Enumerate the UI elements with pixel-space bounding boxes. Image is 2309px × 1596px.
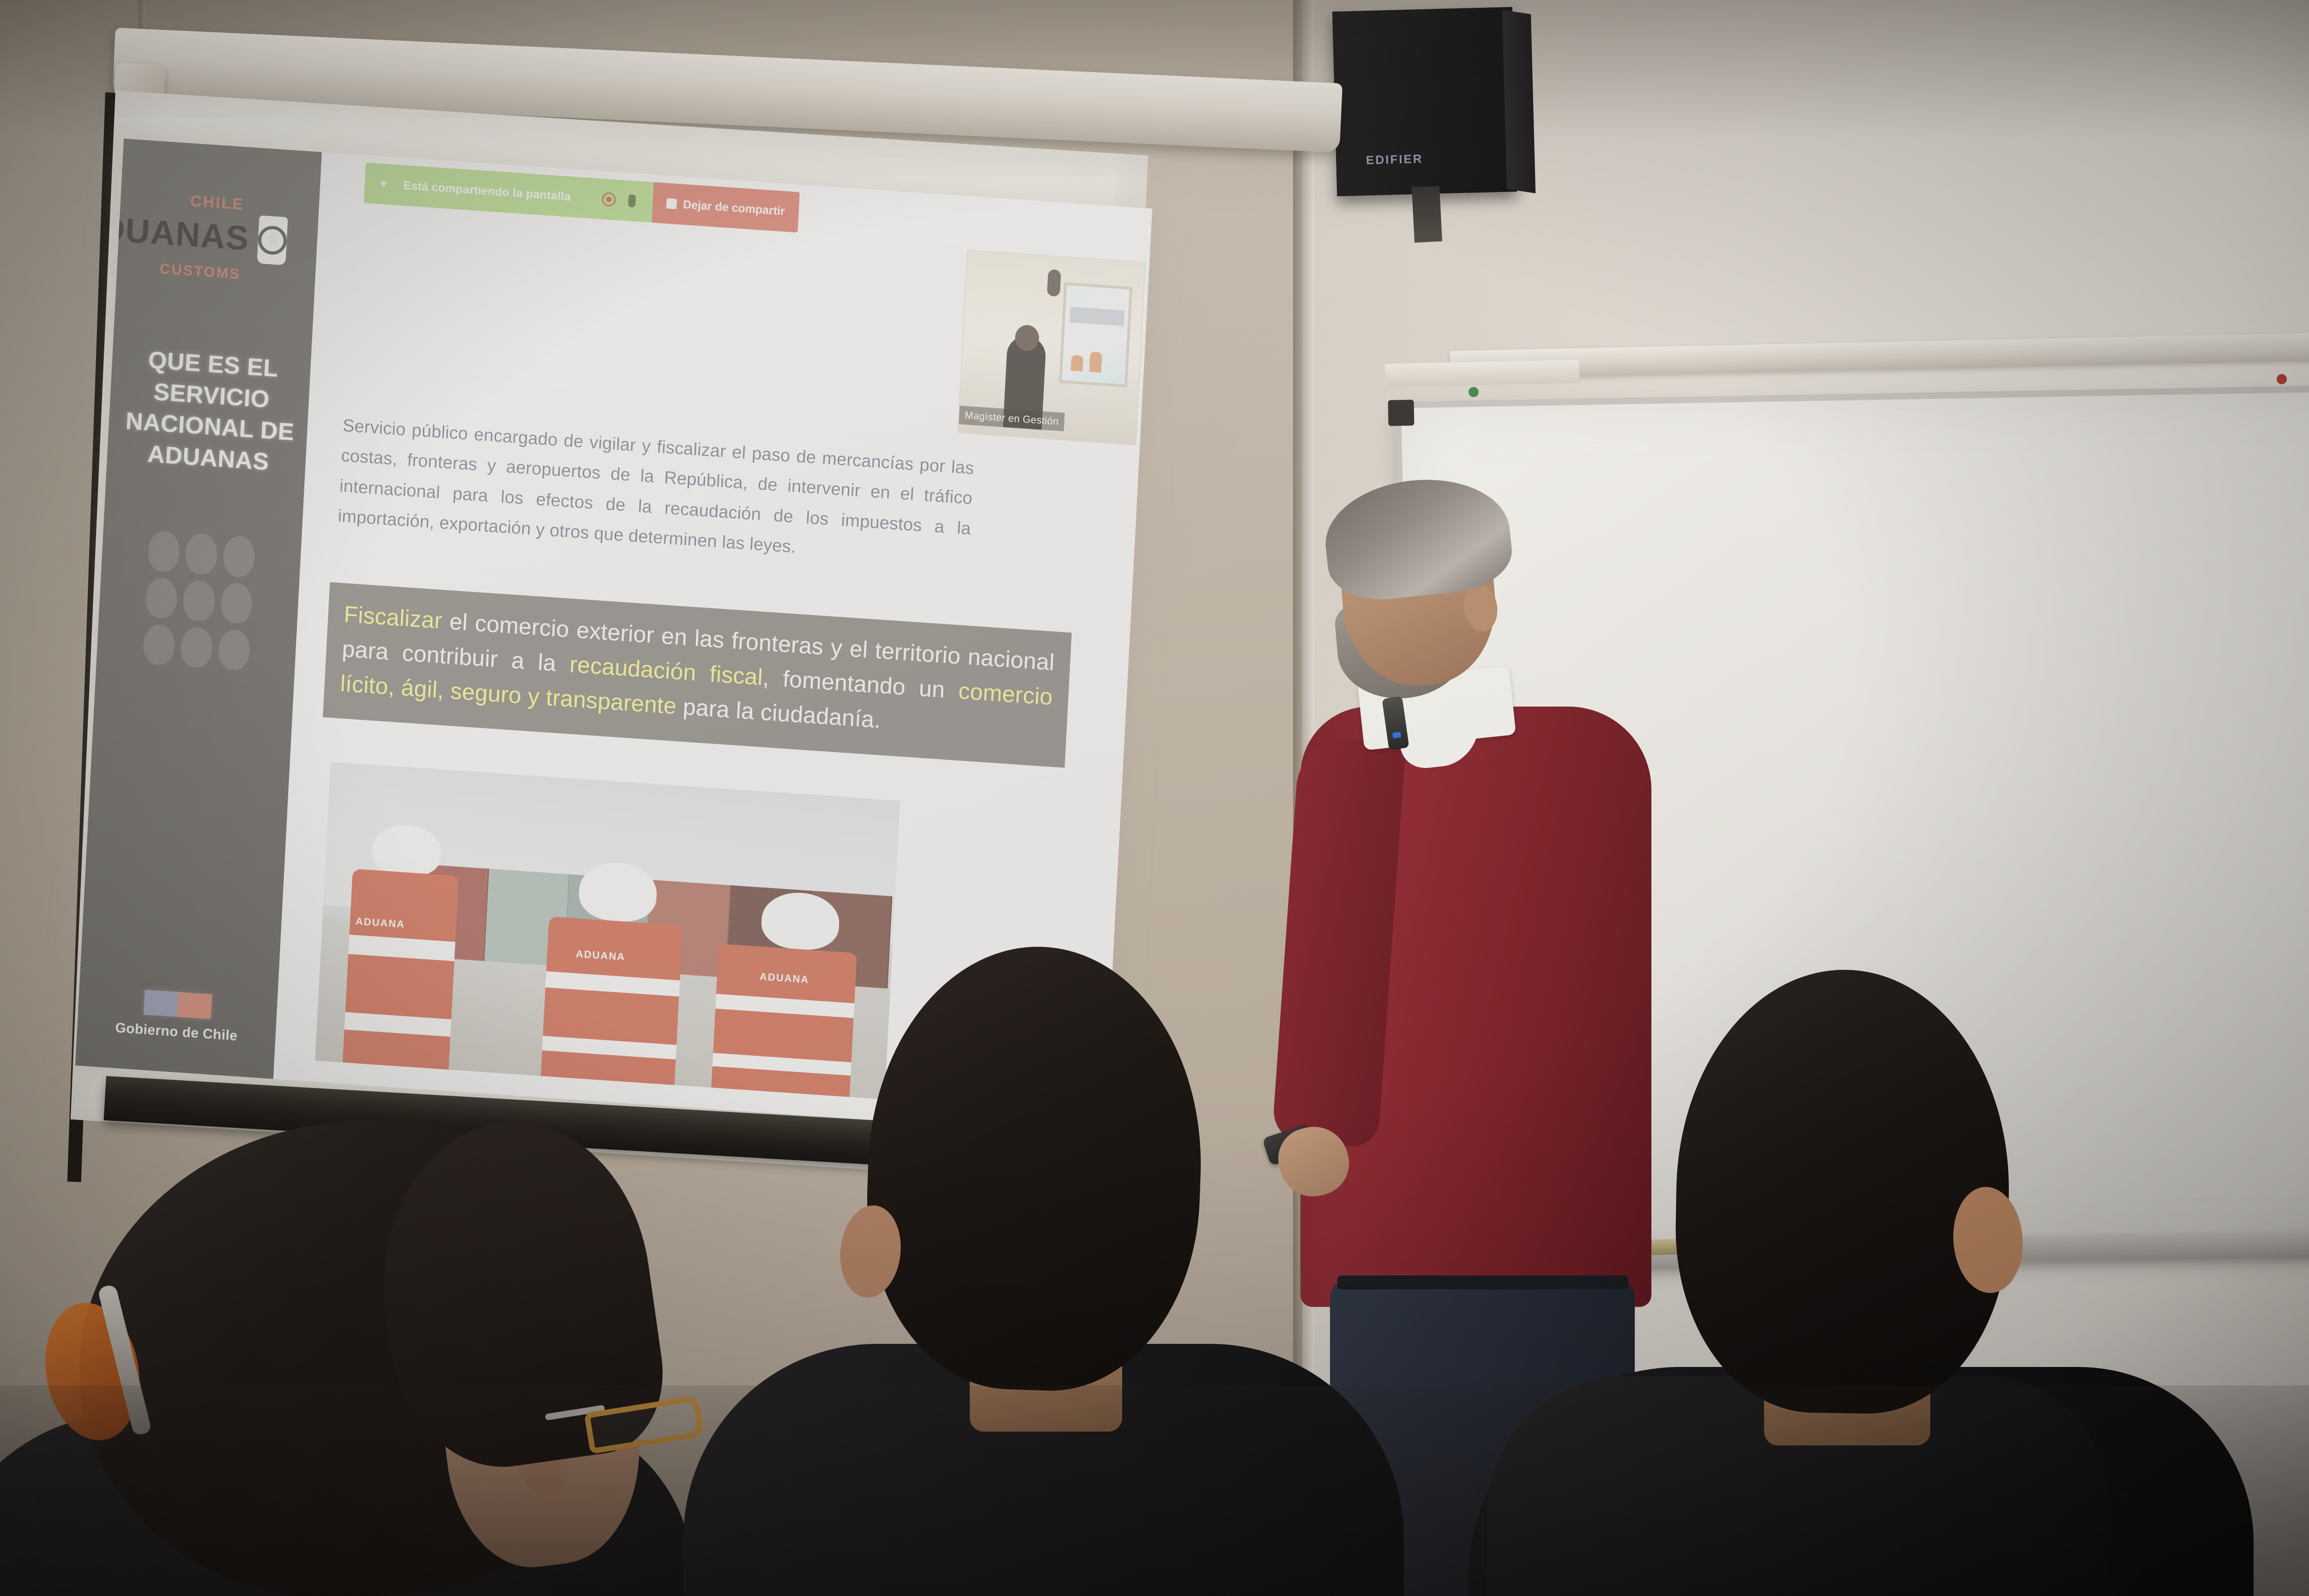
stop-sharing-label: Dejar de compartir bbox=[683, 198, 785, 218]
webcam-tile[interactable]: Magíster en Gestión bbox=[957, 250, 1146, 446]
mission-seg-3: , fomentando un bbox=[762, 665, 959, 704]
photo-vest bbox=[541, 916, 683, 1087]
slide-intro-paragraph: Servicio público encargado de vigilar y … bbox=[337, 411, 975, 574]
cast-icon[interactable] bbox=[602, 192, 617, 207]
photo-vest bbox=[711, 943, 857, 1099]
lower-shadow bbox=[0, 1385, 2309, 1596]
aduanas-logo: CHILE ADUANAS ★ CUSTOMS bbox=[133, 189, 289, 285]
webcam-projected-slide bbox=[1059, 282, 1132, 387]
presenter-belt bbox=[1337, 1276, 1628, 1289]
share-status-group: ✦ Está compartiendo la pantalla bbox=[363, 163, 653, 223]
share-icon-group bbox=[583, 191, 639, 208]
speaker-brand-label: EDIFIER bbox=[1366, 151, 1423, 167]
photo-officer-right: ADUANA bbox=[711, 935, 858, 1097]
slide-mission-box: Fiscalizar el comercio exterior en las f… bbox=[323, 582, 1072, 768]
mission-seg-2: recaudación fiscal bbox=[569, 651, 763, 690]
speaker-mount-bracket bbox=[1412, 186, 1442, 243]
photo-officer-left: ADUANA bbox=[343, 864, 459, 1070]
wall-anchor-red bbox=[2277, 374, 2287, 384]
logo-divider-rule bbox=[252, 213, 255, 265]
chile-flag-blocks bbox=[144, 990, 212, 1019]
classroom-scene: EXPRESS EDIFIER CHILE ADUANAS ★ bbox=[0, 0, 2309, 1596]
cable-raceway-segment bbox=[1385, 360, 1579, 387]
webcam-ceiling-mic bbox=[1047, 269, 1061, 297]
star-shield-icon: ★ bbox=[257, 215, 288, 265]
stop-square-icon bbox=[666, 198, 677, 209]
wall-anchor-green bbox=[1469, 387, 1479, 397]
whiteboard-corner-bracket bbox=[1388, 400, 1414, 426]
meet-logo-icon: ✦ bbox=[376, 176, 391, 191]
mission-seg-0: Fiscalizar bbox=[343, 601, 443, 634]
decorative-pattern bbox=[143, 530, 256, 671]
stop-sharing-button[interactable]: Dejar de compartir bbox=[652, 182, 800, 232]
star-glyph: ★ bbox=[266, 233, 279, 248]
pin-icon[interactable] bbox=[625, 193, 640, 208]
gobierno-label: Gobierno de Chile bbox=[115, 1020, 238, 1044]
wall-speaker bbox=[1332, 7, 1517, 196]
wall-speaker-side bbox=[1502, 10, 1535, 193]
slide-photo-customs-officers: ADUANA ADUANA ADUANA bbox=[315, 762, 900, 1099]
mission-seg-5: para la ciudadanía. bbox=[676, 693, 881, 733]
share-status-text: Está compartiendo la pantalla bbox=[403, 179, 571, 204]
gobierno-de-chile-logo: Gobierno de Chile bbox=[115, 988, 240, 1044]
photo-vest bbox=[343, 869, 459, 1070]
photo-officer-center: ADUANA bbox=[541, 910, 683, 1085]
slide-sidebar-title: QUE ES EL SERVICIO NACIONAL DE ADUANAS bbox=[119, 343, 303, 480]
